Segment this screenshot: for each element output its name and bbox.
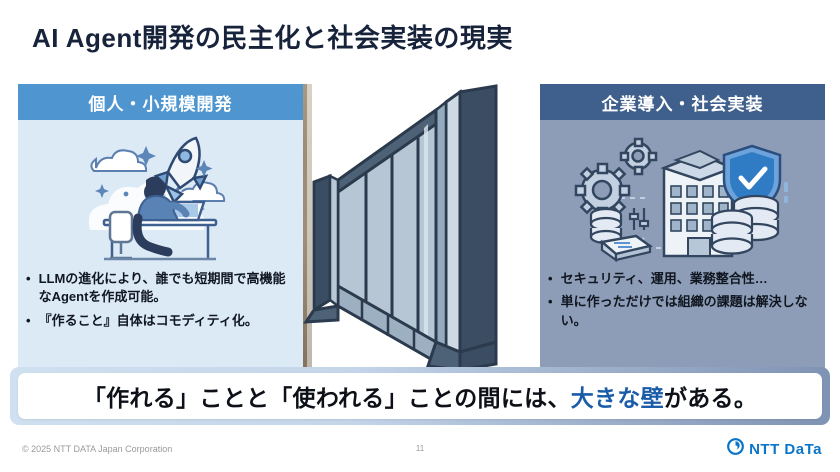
list-item: • LLMの進化により、誰でも短期間で高機能なAgentを作成可能。 [26, 270, 293, 307]
bullet-marker-icon: • [26, 270, 31, 288]
bullet-text: LLMの進化により、誰でも短期間で高機能なAgentを作成可能。 [39, 270, 293, 307]
key-message-prefix: 「作れる」ことと「使われる」ことの間には、 [83, 385, 571, 411]
illustration-enterprise-building-gears-database-shield [540, 120, 825, 272]
list-item: • セキュリティ、運用、業務整合性… [548, 270, 815, 288]
panel-right-body: • セキュリティ、運用、業務整合性… • 単に作っただけでは組織の課題は解決しな… [540, 120, 825, 369]
illustration-person-at-desk-with-rocket [18, 120, 303, 272]
key-message-banner: 「作れる」ことと「使われる」ことの間には、大きな壁がある。 [18, 373, 822, 419]
panel-enterprise-social-implementation: 企業導入・社会実装 [540, 84, 825, 369]
bullet-text: 単に作っただけでは組織の課題は解決しない。 [561, 293, 815, 330]
bullet-marker-icon: • [548, 293, 553, 311]
bullet-text: セキュリティ、運用、業務整合性… [561, 270, 815, 288]
key-message-banner-frame: 「作れる」ことと「使われる」ことの間には、大きな壁がある。 [10, 367, 830, 425]
list-item: • 単に作っただけでは組織の課題は解決しない。 [548, 293, 815, 330]
nttdata-mark-icon [727, 438, 744, 460]
key-message-suffix: がある。 [664, 385, 757, 411]
slide-footer: © 2025 NTT DATA Japan Corporation 11 NTT… [0, 432, 840, 472]
bullet-text: 『作ること』自体はコモディティ化。 [39, 312, 293, 330]
bullet-marker-icon: • [548, 270, 553, 288]
panel-right-header: 企業導入・社会実装 [540, 84, 825, 120]
key-message-text: 「作れる」ことと「使われる」ことの間には、大きな壁がある。 [83, 379, 757, 413]
nttdata-logo-text: NTT DaTa [749, 441, 822, 458]
nttdata-logo: NTT DaTa [727, 438, 822, 460]
list-item: • 『作ること』自体はコモディティ化。 [26, 312, 293, 330]
bullet-marker-icon: • [26, 312, 31, 330]
page-number: 11 [0, 444, 840, 453]
key-message-highlight: 大きな壁 [571, 385, 664, 411]
panel-right-bullet-list: • セキュリティ、運用、業務整合性… • 単に作っただけでは組織の課題は解決しな… [540, 270, 825, 335]
wall-illustration [300, 84, 550, 369]
panel-left-header: 個人・小規模開発 [18, 84, 303, 120]
panel-left-body: • LLMの進化により、誰でも短期間で高機能なAgentを作成可能。 • 『作る… [18, 120, 303, 369]
slide-root: AI Agent開発の民主化と社会実装の現実 [0, 0, 840, 472]
panel-individual-small-scale: 個人・小規模開発 [18, 84, 303, 369]
panel-left-bullet-list: • LLMの進化により、誰でも短期間で高機能なAgentを作成可能。 • 『作る… [18, 270, 303, 335]
page-title: AI Agent開発の民主化と社会実装の現実 [32, 18, 513, 55]
